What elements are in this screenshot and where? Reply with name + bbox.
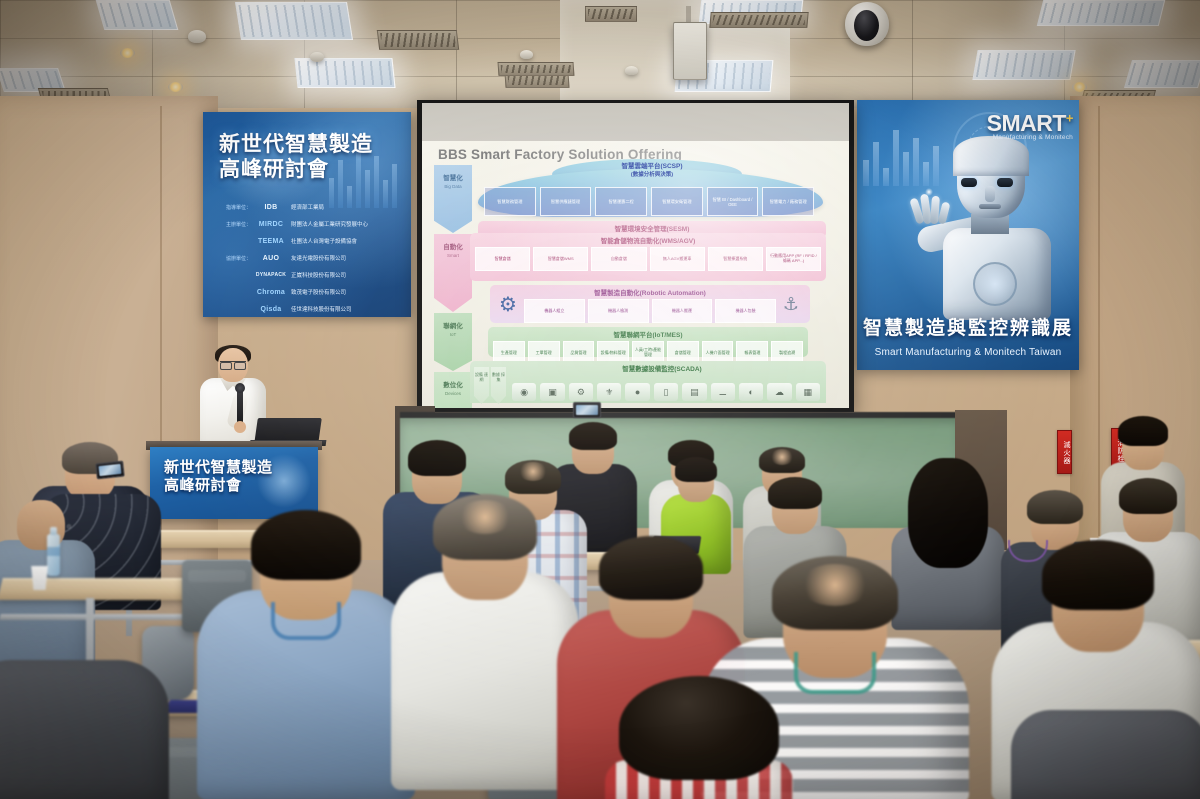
attendee-front-most: [604, 676, 794, 799]
sponsor-name: 財團法人金屬工業研究發展中心: [291, 220, 407, 228]
sponsor-logo-qisda: Qisda: [255, 304, 287, 315]
attendee-hair: [599, 536, 703, 600]
scada-chevron-group: 設備 連網 數據 採集: [474, 367, 508, 401]
sponsor-name: 社團法人台灣電子設備協會: [291, 237, 407, 245]
band-box: 機器人組立: [524, 299, 585, 323]
band-title: 智能倉儲物流自動化(WMS/AGV): [470, 233, 826, 245]
sponsor-name: 經濟部工業局: [291, 203, 407, 211]
attendee-shirt: [391, 572, 579, 790]
attendee-hair: [1042, 540, 1154, 610]
attendee-long-hair: [908, 458, 988, 568]
scada-chevron: 設備 連網: [474, 367, 489, 404]
sponsor-tag: 指導單位：: [217, 204, 251, 211]
robot-arm-icon: ⚙: [494, 291, 522, 319]
podium-banner-line2: 高峰研討會: [164, 477, 304, 495]
lanyard: [794, 652, 876, 694]
band-box: 機器人搬運: [652, 299, 713, 323]
fire-extinguisher-sign: 滅火器: [1057, 430, 1072, 474]
band-box: 無人AGV搬運車: [650, 247, 705, 271]
attendee-hair: [408, 440, 466, 476]
attendee-hair: [251, 510, 361, 580]
display-panel-icon: ▯: [654, 383, 678, 401]
robot-arm-icon: ⚓: [776, 290, 806, 318]
band-title: 智慧數據設備監控(SCADA): [470, 361, 826, 373]
sponsor-logo-idb: IDB: [255, 202, 287, 213]
cloud-box: 智慧環安衛管理: [651, 187, 703, 216]
robot-eye-left: [961, 178, 977, 187]
injection-molding-icon: ●: [625, 383, 649, 401]
band-box: 機器人檢測: [588, 299, 649, 323]
sponsor-logo-dynapack: DYNAPACK: [255, 270, 287, 281]
smart-logo-plus: +: [1066, 110, 1073, 125]
sponsor-name: 正崴科技股份有限公司: [291, 271, 407, 279]
robot-hand: [911, 186, 951, 234]
cloud-title-text: 智慧雲端平台(SCSP): [552, 163, 752, 171]
sensor-icon: ◉: [512, 383, 536, 401]
smart-logo-word: SMART+: [987, 110, 1073, 137]
attendee-bald-spot: [457, 500, 513, 534]
plc-icon: ▦: [796, 383, 820, 401]
band-title: 智慧聯網平台(IoT/MES): [488, 327, 808, 339]
cloud-box: 智慧運籌二程: [595, 187, 647, 216]
attendee-bottom-right: [1010, 700, 1200, 799]
band-box: 智慧倉儲: [475, 247, 530, 271]
band-box: 機器人包裝: [715, 299, 776, 323]
cloud-gateway-icon: ☁: [767, 383, 791, 401]
attendee-hair: [619, 676, 779, 780]
attendee-shirt: [0, 660, 169, 799]
right-banner-headline-cn: 智慧製造與監控辨識展: [857, 313, 1079, 340]
smartphone-recording: [573, 402, 601, 418]
right-exhibition-banner: SMART+ Manufacturing & Monitech 智慧製造與監控辨…: [857, 100, 1079, 370]
sponsor-name: 友達光電股份有限公司: [291, 254, 407, 262]
slide-cloud-title: 智慧雲端平台(SCSP) (數據分析與決策): [552, 163, 752, 179]
conveyor-icon: ⚊: [711, 383, 735, 401]
sponsor-name: 致茂電子股份有限公司: [291, 288, 407, 296]
lanyard: [271, 602, 341, 640]
controller-icon: ▣: [540, 383, 564, 401]
scada-device-icon-row: ◉ ▣ ⚙ ⚜ ● ▯ ▤ ⚊ ◐ ☁ ▦: [512, 377, 820, 401]
attendee-hair: [1118, 416, 1168, 446]
sponsor-name: 佳世達科技股份有限公司: [291, 305, 407, 313]
screen-top-band: [422, 103, 849, 141]
seminar-photo-scene: 新世代智慧製造 高峰研討會 指導單位： IDB 經濟部工業局 主辦單位： MIR…: [0, 0, 1200, 799]
podium-banner-line1: 新世代智慧製造: [164, 459, 304, 477]
slide-layer-column: 智慧化 Big Data 自動化 Smart 聯網化 IoT 數位化 Devic…: [434, 165, 472, 408]
attendee-white-shirt: [390, 492, 580, 792]
sponsor-row: TEEMA 社團法人台灣電子設備協會: [217, 234, 407, 248]
slide-layer-iot: 聯網化 IoT: [434, 313, 472, 371]
water-bottle: [47, 534, 60, 576]
sponsor-logo-teema: TEEMA: [255, 236, 287, 247]
layer-label-en: Devices: [434, 391, 472, 396]
cnc-machine-icon: ⚙: [569, 383, 593, 401]
robot-chest-ring: [973, 262, 1017, 306]
attendee-blue-shirt-lanyard: [196, 506, 416, 798]
sponsor-row: 協辦單位： AUO 友達光電股份有限公司: [217, 251, 407, 265]
attendee-shirt: [1011, 710, 1200, 799]
sponsor-logo-auo: AUO: [255, 253, 287, 264]
layer-label-en: Smart: [434, 253, 472, 258]
layer-label-en: IoT: [434, 332, 472, 337]
cloud-box: 智慧財務管理: [484, 187, 536, 216]
scanner-icon: ▤: [682, 383, 706, 401]
slide-band-robotic: ⚙ ⚓ 智慧製造自動化(Robotic Automation) 機器人組立 機器…: [490, 285, 810, 323]
robot-arm-icon: ⚜: [597, 383, 621, 401]
attendee-bald-spot: [799, 564, 871, 606]
camera-icon: ◐: [739, 383, 763, 401]
scada-chevron: 數據 採集: [491, 367, 506, 404]
left-banner-title-line1: 新世代智慧製造: [219, 132, 399, 157]
sponsor-row: 主辦單位： MIRDC 財團法人金屬工業研究發展中心: [217, 217, 407, 231]
podium-banner-text: 新世代智慧製造 高峰研討會: [164, 459, 304, 495]
attendee-hair: [1119, 478, 1177, 514]
smart-logo-subtitle: Manufacturing & Monitech: [987, 134, 1073, 141]
robot-mouth: [979, 204, 1001, 209]
cloud-box: 智慧 BI / Dashboard / OEE: [707, 187, 759, 216]
slide-band-scada: 設備 連網 數據 採集 智慧數據設備監控(SCADA) ◉ ▣ ⚙ ⚜ ● ▯ …: [470, 361, 826, 403]
robot-helmet: [953, 136, 1029, 176]
sponsor-tag: 主辦單位：: [217, 221, 251, 228]
sponsor-row: Chroma 致茂電子股份有限公司: [217, 285, 407, 299]
slide-band-iot: 智慧聯網平台(IoT/MES) 生產管理 工單管理 品質管理 設備/物料管理 人…: [488, 327, 808, 357]
slide-cloud-boxes: 智慧財務管理 智慧供應鏈管理 智慧運籌二程 智慧環安衛管理 智慧 BI / Da…: [484, 187, 814, 216]
layer-label-cn: 聯網化: [443, 323, 463, 330]
band-box: 自動倉儲: [591, 247, 646, 271]
layer-label-en: Big Data: [434, 184, 472, 189]
cloud-subtitle-text: (數據分析與決策): [552, 171, 752, 179]
left-banner-title: 新世代智慧製造 高峰研討會: [219, 132, 399, 182]
slide-layer-devices: 數位化 Devices: [434, 372, 472, 408]
band-box-row: 智慧倉儲 智慧倉儲WMS 自動倉儲 無人AGV搬運車 智慧揀選系統 行動應用AP…: [470, 245, 826, 275]
band-box: 行動應用APP (RF / RFID / 條碼 APP...): [766, 247, 821, 271]
left-banner-title-line2: 高峰研討會: [219, 157, 399, 182]
humanoid-robot-icon: [909, 134, 1069, 320]
cloud-box: 智慧供應鏈管理: [540, 187, 592, 216]
attendee-hair: [768, 477, 822, 509]
left-banner-sponsor-list: 指導單位： IDB 經濟部工業局 主辦單位： MIRDC 財團法人金屬工業研究發…: [217, 200, 407, 317]
presenter-hand: [234, 421, 246, 433]
smart-logo: SMART+ Manufacturing & Monitech: [987, 110, 1073, 141]
sponsor-row: DYNAPACK 正崴科技股份有限公司: [217, 268, 407, 282]
layer-label-cn: 自動化: [443, 244, 463, 251]
band-title: 智慧製造自動化(Robotic Automation): [490, 285, 810, 297]
attendee-bottom-left: [0, 640, 170, 799]
band-box-row: 機器人組立 機器人檢測 機器人搬運 機器人包裝: [490, 297, 810, 327]
sponsor-logo-chroma: Chroma: [255, 287, 287, 298]
slide-layer-smart: 自動化 Smart: [434, 234, 472, 312]
attendee-hair: [1027, 490, 1083, 524]
presentation-slide: BBS Smart Factory Solution Offering 智慧化 …: [422, 141, 849, 408]
attendee-hair: [675, 457, 717, 482]
band-box: 智慧倉儲WMS: [533, 247, 588, 271]
band-title: 智慧環境安全管理(SESM): [478, 221, 826, 233]
robot-eye-right: [997, 178, 1013, 187]
layer-label-cn: 智慧化: [443, 175, 463, 182]
attendee-bald-spot: [518, 462, 548, 481]
sponsor-logo-mirdc: MIRDC: [255, 219, 287, 230]
projection-screen: BBS Smart Factory Solution Offering 智慧化 …: [422, 103, 849, 408]
slide-band-wms: 智能倉儲物流自動化(WMS/AGV) 智慧倉儲 智慧倉儲WMS 自動倉儲 無人A…: [470, 233, 826, 281]
robot-nose: [985, 186, 995, 202]
layer-label-cn: 數位化: [443, 382, 463, 389]
sponsor-tag: 協辦單位：: [217, 255, 251, 262]
attendee-bald-spot: [770, 449, 794, 465]
phone-screen: [576, 405, 598, 415]
eyeglasses-icon: [220, 361, 246, 368]
sponsor-row: Qisda 佳世達科技股份有限公司: [217, 302, 407, 316]
cloud-box: 智慧電力 / 廠務管理: [762, 187, 814, 216]
attendee-hair: [569, 422, 617, 450]
band-box: 智慧揀選系統: [708, 247, 763, 271]
left-event-banner: 新世代智慧製造 高峰研討會 指導單位： IDB 經濟部工業局 主辦單位： MIR…: [203, 112, 411, 317]
slide-layer-bigdata: 智慧化 Big Data: [434, 165, 472, 233]
right-banner-headline-en: Smart Manufacturing & Monitech Taiwan: [857, 347, 1079, 358]
sponsor-row: 指導單位： IDB 經濟部工業局: [217, 200, 407, 214]
